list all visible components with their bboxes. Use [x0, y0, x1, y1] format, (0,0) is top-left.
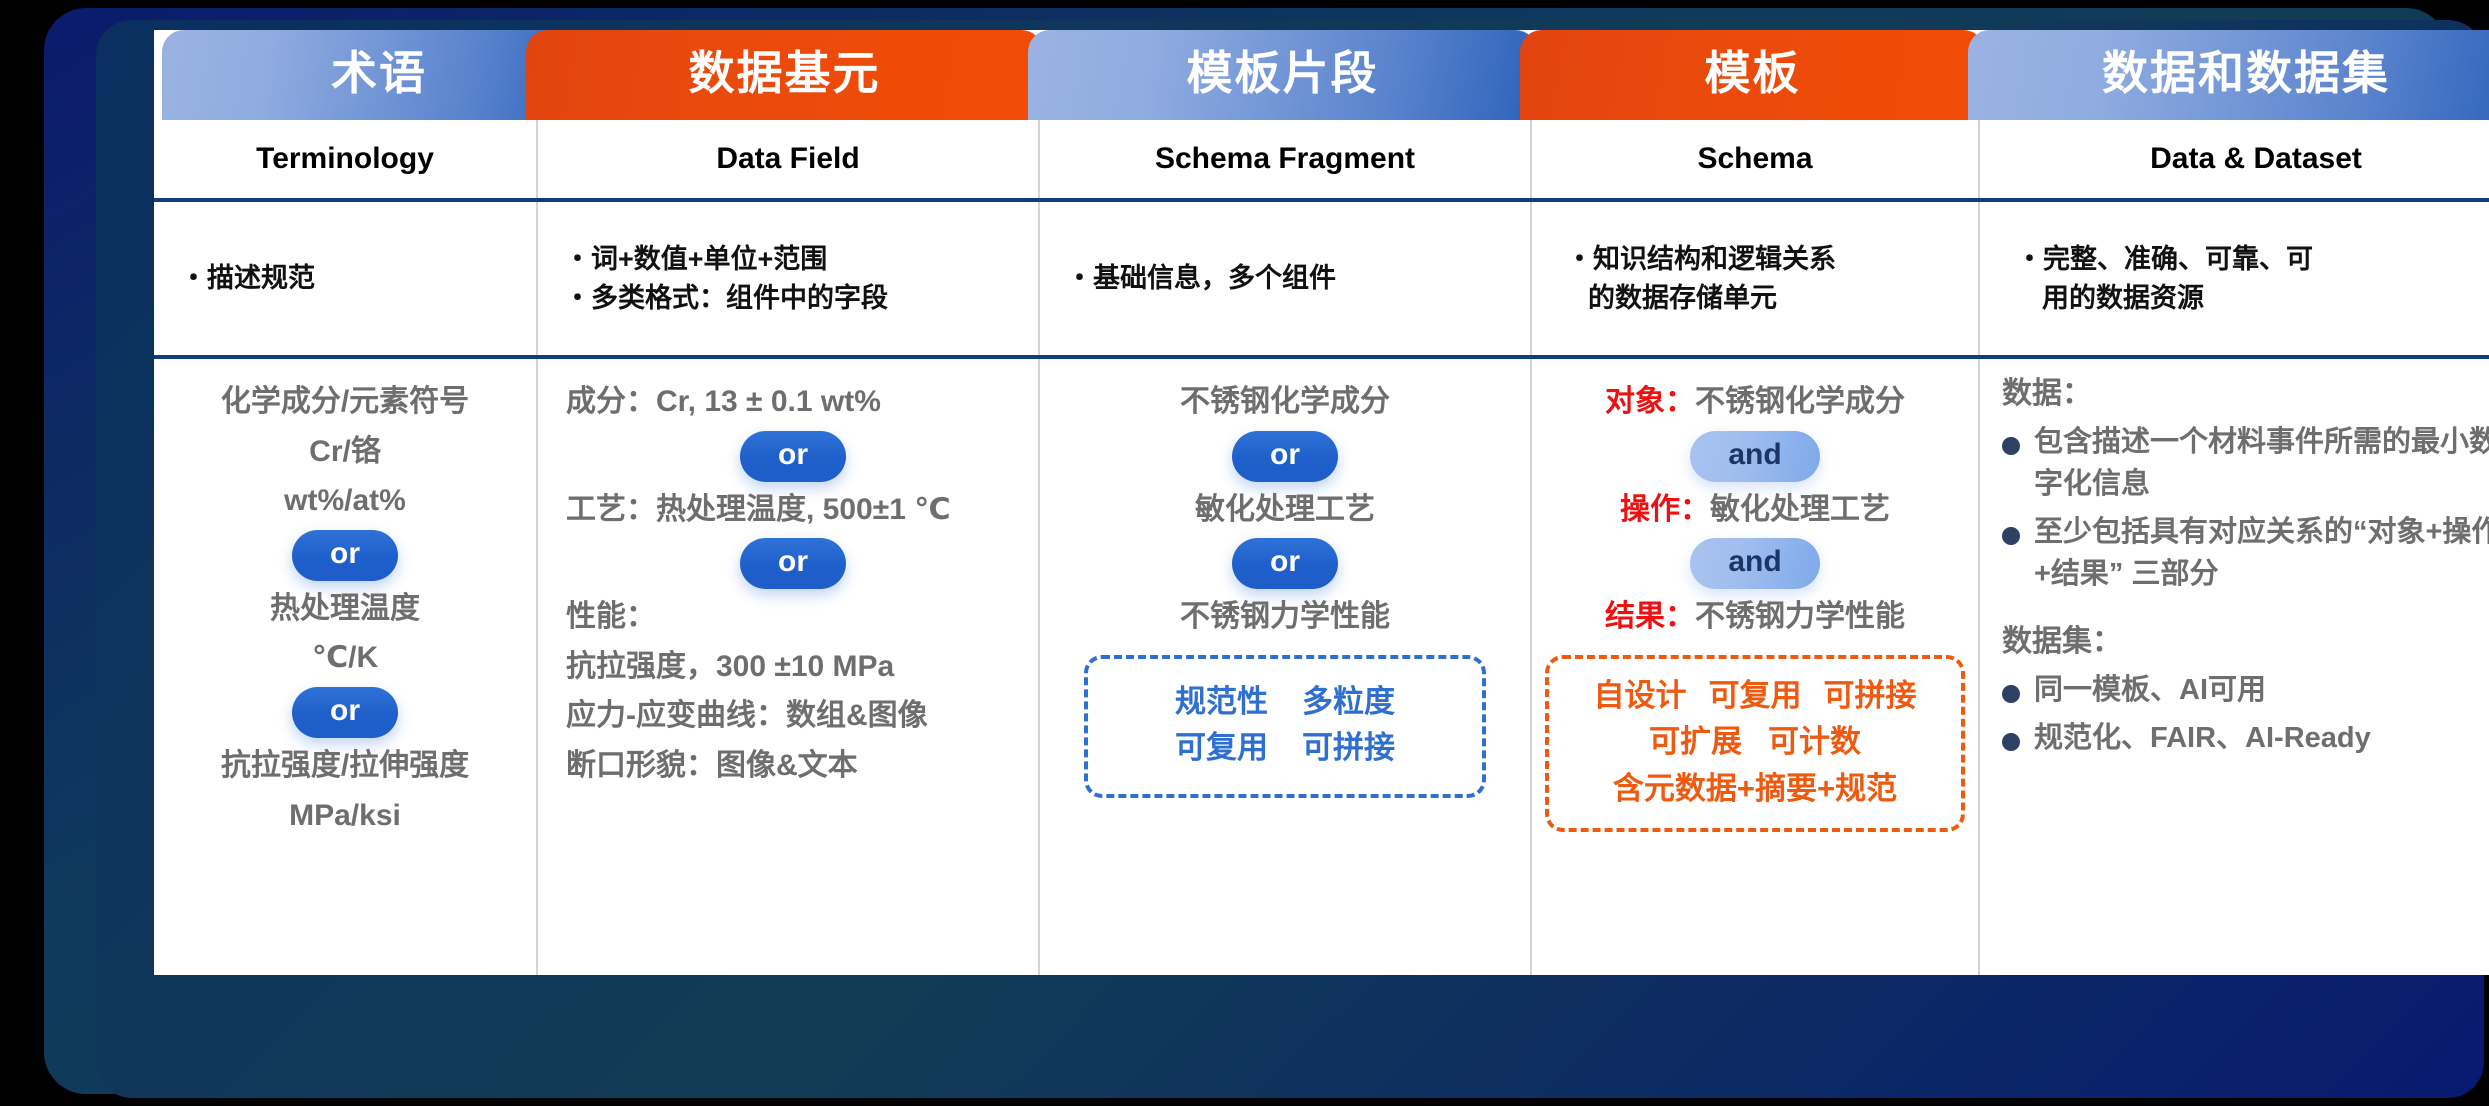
col4-triple-row-1: 对象：不锈钢化学成分 [1544, 381, 1966, 424]
bullet-dot-icon [2002, 685, 2020, 703]
col2-desc-line-2: ・多类格式：组件中的字段 [564, 279, 1012, 317]
col3-feature-box: 规范性 多粒度 可复用 可拼接 [1084, 655, 1486, 798]
col4-triple-row-3: 结果：不锈钢力学性能 [1544, 596, 1966, 639]
col3-feature-3: 可复用 [1175, 725, 1268, 772]
column-terminology: Terminology ・描述规范 化学成分/元素符号 Cr/铬 wt%/at%… [154, 120, 536, 975]
col3-description: ・基础信息，多个组件 [1040, 202, 1530, 355]
col4-desc-line-2: 的数据存储单元 [1566, 279, 1952, 317]
col2-body: 成分：Cr, 13 ± 0.1 wt% or 工艺：热处理温度, 500±1 ℃… [538, 359, 1038, 975]
col4-body: 对象：不锈钢化学成分 and 操作：敏化处理工艺 and 结果：不锈钢力学性能 [1532, 359, 1978, 975]
comparison-table-card: 术语 数据基元 模板片段 模板 数据和数据集 [154, 30, 2489, 975]
col4-feature-4: 可扩展 [1649, 719, 1742, 766]
column-schema-fragment: Schema Fragment ・基础信息，多个组件 不锈钢化学成分 or 敏化… [1040, 120, 1530, 975]
col4-feature-3: 可拼接 [1824, 673, 1917, 720]
col3-feature-1: 规范性 [1175, 679, 1268, 726]
col1-line-4: 热处理温度 [172, 588, 518, 631]
col5-bullet-1-text: 包含描述一个材料事件所需的最小数字化信息 [2034, 421, 2489, 505]
tab-schema[interactable]: 模板 [1520, 30, 1985, 120]
col3-english-name: Schema Fragment [1040, 120, 1530, 198]
col3-feature-4: 可拼接 [1302, 725, 1395, 772]
col1-line-6: 抗拉强度/拉伸强度 [172, 745, 518, 788]
tab-data-dataset[interactable]: 数据和数据集 [1968, 30, 2489, 120]
col1-line-3: wt%/at% [172, 480, 518, 523]
tab-data-field-label: 数据基元 [689, 50, 881, 100]
col3-feature-row-2: 可复用 可拼接 [1100, 725, 1470, 772]
col3-or-pill-1: or [1232, 431, 1338, 482]
tab-schema-fragment[interactable]: 模板片段 [1028, 30, 1537, 120]
table-grid: Terminology ・描述规范 化学成分/元素符号 Cr/铬 wt%/at%… [154, 120, 2489, 975]
frame-inner-bevel: 术语 数据基元 模板片段 模板 数据和数据集 [96, 20, 2484, 1098]
col2-or-pill-2: or [740, 538, 846, 589]
col4-sep-2: ： [1680, 493, 1710, 526]
col3-line-1: 不锈钢化学成分 [1058, 381, 1512, 424]
col5-description: ・完整、准确、可靠、可 用的数据资源 [1980, 202, 2489, 355]
col4-sep-3: ： [1665, 600, 1695, 633]
tab-strip: 术语 数据基元 模板片段 模板 数据和数据集 [154, 30, 2489, 120]
tab-data-dataset-label: 数据和数据集 [2102, 50, 2390, 100]
col3-or-pill-2: or [1232, 538, 1338, 589]
col4-role-3: 结果 [1605, 600, 1665, 633]
col4-feature-row-3: 含元数据+摘要+规范 [1561, 766, 1949, 813]
col2-line-3: 性能： [566, 596, 1020, 639]
col1-line-7: MPa/ksi [172, 795, 518, 838]
col4-role-2: 操作 [1620, 493, 1680, 526]
col4-desc-line-1: ・知识结构和逻辑关系 [1566, 240, 1952, 278]
tab-schema-label: 模板 [1705, 50, 1801, 100]
col4-feature-2: 可复用 [1709, 673, 1802, 720]
tab-schema-fragment-label: 模板片段 [1187, 50, 1379, 100]
col1-or-pill-2: or [292, 687, 398, 738]
col2-line-5: 应力-应变曲线：数组&图像 [566, 695, 1020, 738]
col1-english-name: Terminology [154, 120, 536, 198]
bullet-dot-icon [2002, 527, 2020, 545]
column-data-field: Data Field ・词+数值+单位+范围 ・多类格式：组件中的字段 成分：C… [538, 120, 1038, 975]
column-schema: Schema ・知识结构和逻辑关系 的数据存储单元 对象：不锈钢化学成分 and… [1532, 120, 1978, 975]
col4-feature-box: 自设计 可复用 可拼接 可扩展 可计数 含元数据+摘要+规范 [1545, 655, 1965, 833]
col4-triple-row-2: 操作：敏化处理工艺 [1544, 489, 1966, 532]
col5-desc-line-2: 用的数据资源 [2016, 279, 2489, 317]
col4-and-pill-1: and [1690, 431, 1819, 482]
col1-or-pill-1: or [292, 530, 398, 581]
col4-feature-row-1: 自设计 可复用 可拼接 [1561, 673, 1949, 720]
col2-line-6: 断口形貌：图像&文本 [566, 745, 1020, 788]
col5-bullet-2: 至少包括具有对应关系的“对象+操作+结果” 三部分 [2002, 511, 2489, 595]
col4-value-3: 不锈钢力学性能 [1695, 600, 1905, 633]
bullet-dot-icon [2002, 437, 2020, 455]
col5-group2-title: 数据集： [2002, 621, 2489, 663]
col3-feature-2: 多粒度 [1302, 679, 1395, 726]
col2-line-1: 成分：Cr, 13 ± 0.1 wt% [566, 381, 1020, 424]
col2-line-2: 工艺：热处理温度, 500±1 ℃ [566, 489, 1020, 532]
col5-desc-line-1: ・完整、准确、可靠、可 [2016, 240, 2489, 278]
col4-value-2: 敏化处理工艺 [1710, 493, 1890, 526]
col5-bullet-1: 包含描述一个材料事件所需的最小数字化信息 [2002, 421, 2489, 505]
col5-english-name: Data & Dataset [1980, 120, 2489, 198]
col1-desc-line-1: ・描述规范 [180, 259, 510, 297]
col5-bullet-4: 规范化、FAIR、AI-Ready [2002, 717, 2489, 759]
col4-feature-6: 含元数据+摘要+规范 [1613, 766, 1897, 813]
col5-body: 数据： 包含描述一个材料事件所需的最小数字化信息 至少包括具有对应关系的“对象+… [1980, 359, 2489, 975]
col3-feature-row-1: 规范性 多粒度 [1100, 679, 1470, 726]
col2-or-pill-1: or [740, 431, 846, 482]
tab-data-field[interactable]: 数据基元 [526, 30, 1043, 120]
col4-and-pill-2: and [1690, 538, 1819, 589]
col5-bullet-3: 同一模板、AI可用 [2002, 669, 2489, 711]
col4-feature-5: 可计数 [1768, 719, 1861, 766]
col2-english-name: Data Field [538, 120, 1038, 198]
col4-sep-1: ： [1665, 385, 1695, 418]
col4-value-1: 不锈钢化学成分 [1695, 385, 1905, 418]
col4-english-name: Schema [1532, 120, 1978, 198]
col3-body: 不锈钢化学成分 or 敏化处理工艺 or 不锈钢力学性能 规范性 多粒度 可复用 [1040, 359, 1530, 975]
col3-line-3: 不锈钢力学性能 [1058, 596, 1512, 639]
col2-description: ・词+数值+单位+范围 ・多类格式：组件中的字段 [538, 202, 1038, 355]
col1-line-1: 化学成分/元素符号 [172, 381, 518, 424]
col5-bullet-2-text: 至少包括具有对应关系的“对象+操作+结果” 三部分 [2034, 511, 2489, 595]
col3-line-2: 敏化处理工艺 [1058, 489, 1512, 532]
col5-bullet-4-text: 规范化、FAIR、AI-Ready [2034, 717, 2371, 759]
outer-frame: 术语 数据基元 模板片段 模板 数据和数据集 [44, 8, 2448, 1094]
bullet-dot-icon [2002, 733, 2020, 751]
col4-description: ・知识结构和逻辑关系 的数据存储单元 [1532, 202, 1978, 355]
col1-line-2: Cr/铬 [172, 431, 518, 474]
col5-bullet-3-text: 同一模板、AI可用 [2034, 669, 2266, 711]
col5-group1-title: 数据： [2002, 373, 2489, 415]
col1-description: ・描述规范 [154, 202, 536, 355]
column-data-dataset: Data & Dataset ・完整、准确、可靠、可 用的数据资源 数据： 包含… [1980, 120, 2489, 975]
tab-terminology-label: 术语 [331, 50, 427, 100]
col4-feature-1: 自设计 [1594, 673, 1687, 720]
col1-line-5: ℃/K [172, 637, 518, 680]
col4-feature-row-2: 可扩展 可计数 [1561, 719, 1949, 766]
col2-line-4: 抗拉强度，300 ±10 MPa [566, 646, 1020, 689]
col1-body: 化学成分/元素符号 Cr/铬 wt%/at% or 热处理温度 ℃/K or 抗… [154, 359, 536, 975]
col3-desc-line-1: ・基础信息，多个组件 [1066, 259, 1504, 297]
col4-role-1: 对象 [1605, 385, 1665, 418]
col2-desc-line-1: ・词+数值+单位+范围 [564, 240, 1012, 278]
